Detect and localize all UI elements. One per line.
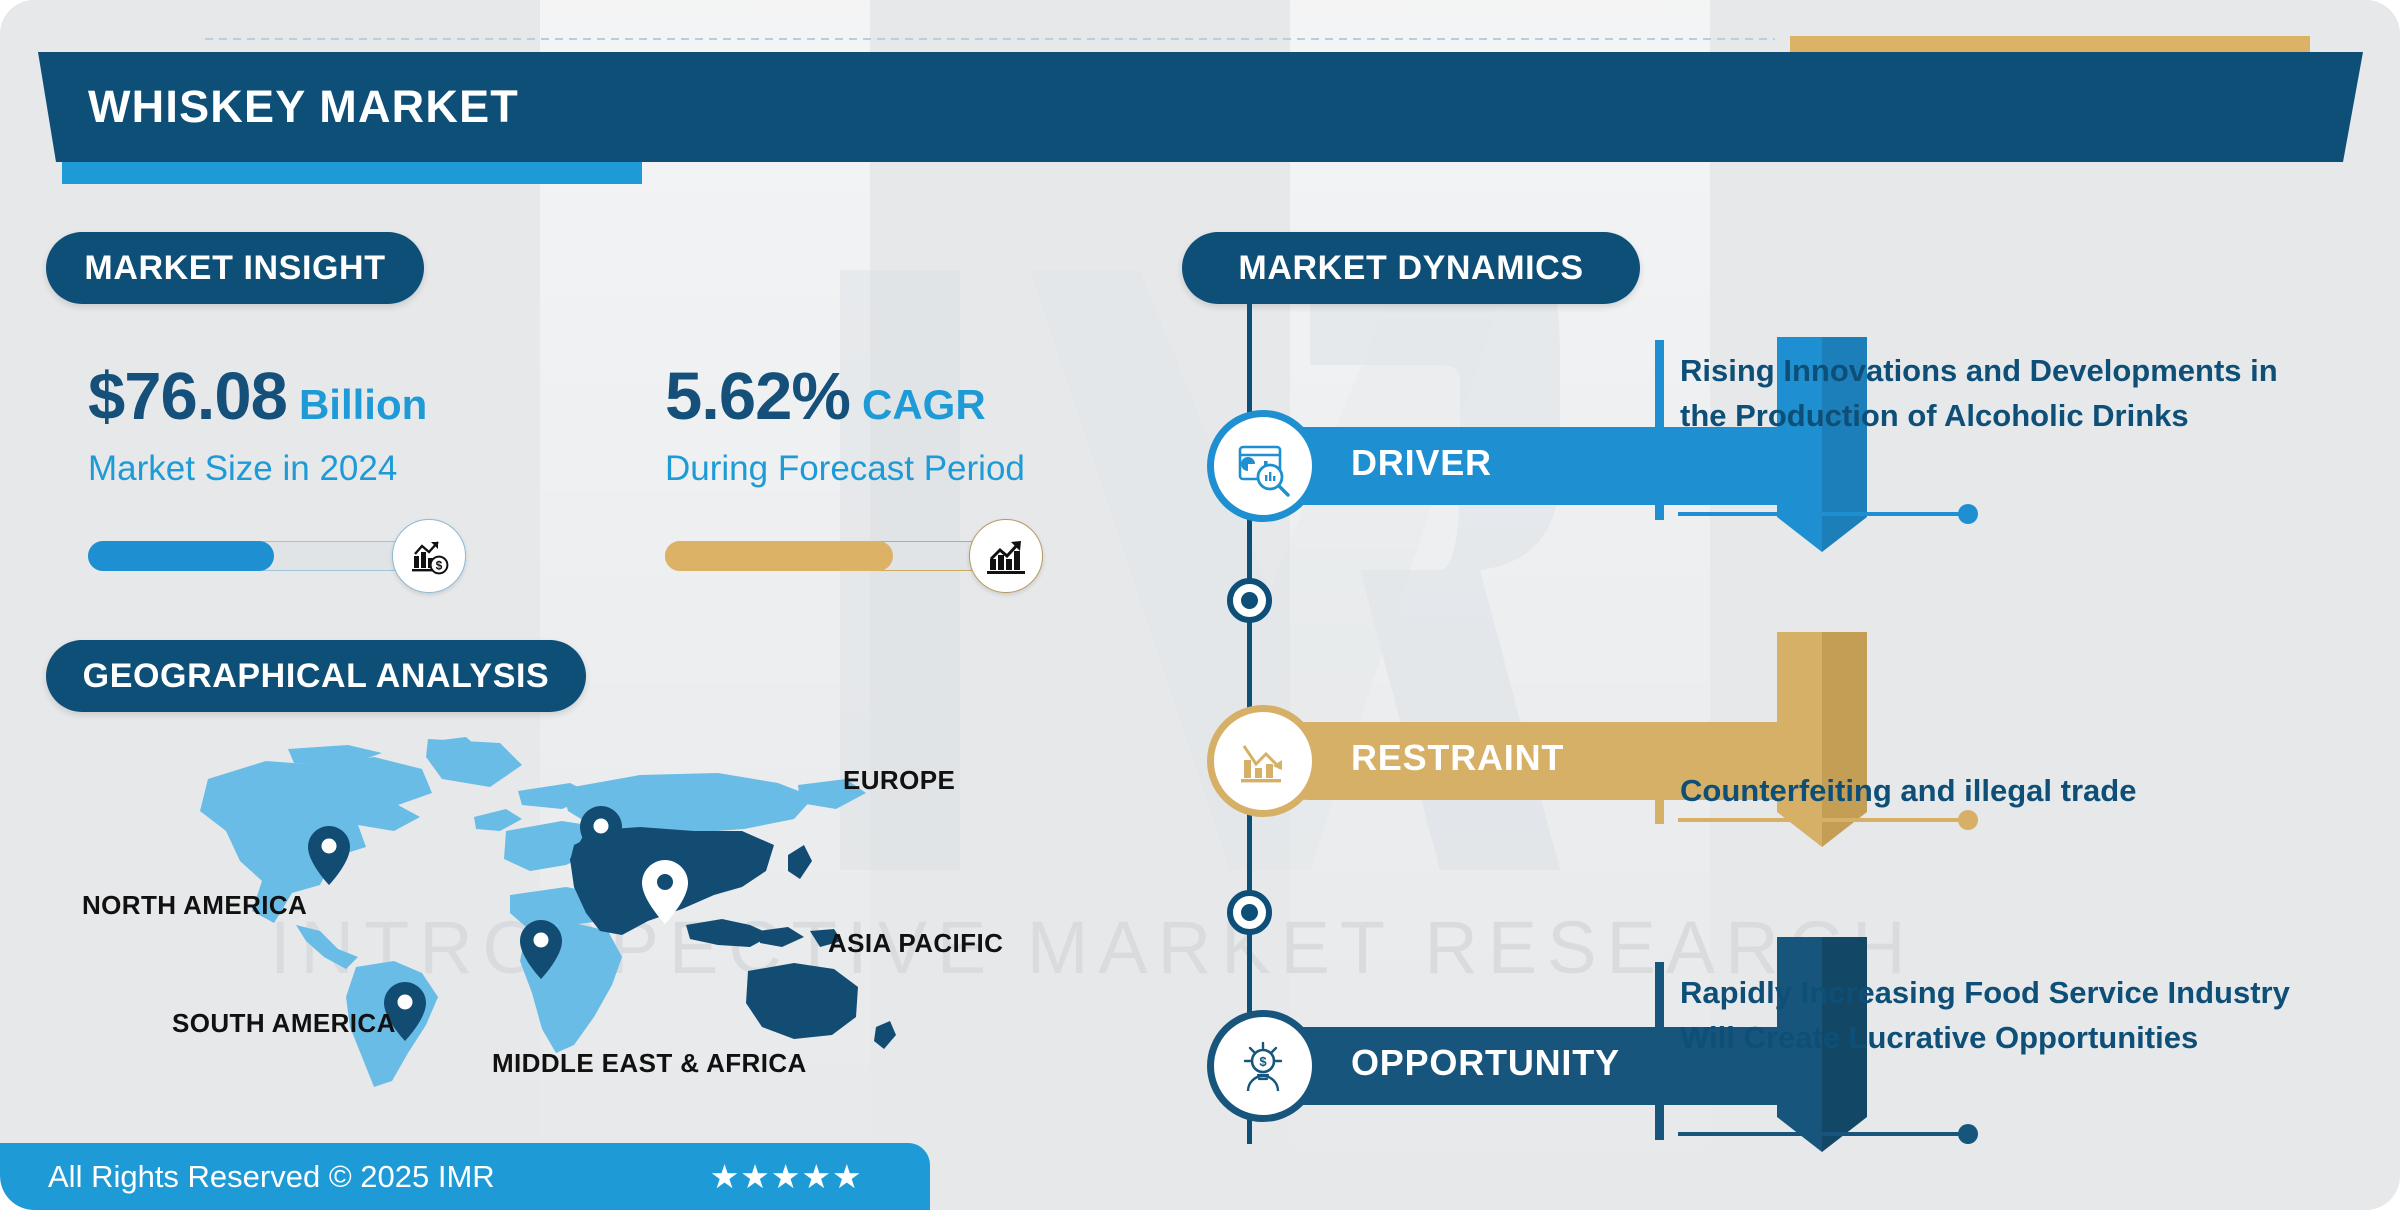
restraint-left-edge — [1655, 752, 1664, 824]
driver-left-edge — [1655, 340, 1664, 520]
section-pill-market-dynamics[interactable]: MARKET DYNAMICS — [1182, 232, 1640, 304]
cagr-value: 5.62% — [665, 359, 850, 434]
timeline-node-1 — [1227, 578, 1272, 623]
market-size-unit: Billion — [299, 381, 427, 428]
section-pill-market-insight[interactable]: MARKET INSIGHT — [46, 232, 424, 304]
growth-arrow-chart-icon — [969, 519, 1043, 593]
opportunity-text: Rapidly Increasing Food Service Industry… — [1680, 970, 2300, 1061]
stat-cagr: 5.62%CAGR During Forecast Period — [665, 358, 1065, 593]
header-banner: WHISKEY MARKET — [38, 52, 2363, 162]
driver-label: DRIVER — [1351, 442, 1492, 484]
page-title: WHISKEY MARKET — [88, 81, 519, 133]
lightbulb-dollar-icon: $ — [1207, 1010, 1319, 1122]
svg-text:$: $ — [1259, 1054, 1267, 1069]
progress-fill — [665, 541, 893, 571]
driver-underline — [1678, 512, 1968, 516]
timeline-node-2 — [1227, 890, 1272, 935]
restraint-underline — [1678, 818, 1968, 822]
opportunity-underline — [1678, 1132, 1968, 1136]
map-label-south-america: SOUTH AMERICA — [172, 1008, 396, 1039]
restraint-underline-dot — [1958, 810, 1978, 830]
cagr-caption: During Forecast Period — [665, 449, 1065, 489]
market-size-value: $76.08 — [88, 359, 287, 434]
stat-market-size: $76.08Billion Market Size in 2024 $ — [88, 358, 488, 593]
driver-text: Rising Innovations and Developments in t… — [1680, 348, 2300, 439]
driver-band — [1269, 427, 1789, 505]
declining-bar-chart-icon — [1207, 705, 1319, 817]
svg-text:$: $ — [436, 558, 443, 572]
map-label-europe: EUROPE — [843, 765, 955, 796]
map-label-north-america: NORTH AMERICA — [82, 890, 307, 921]
opportunity-left-edge — [1655, 962, 1664, 1140]
opportunity-label: OPPORTUNITY — [1351, 1042, 1620, 1084]
restraint-text: Counterfeiting and illegal trade — [1680, 768, 2300, 813]
header-blue-accent-bar — [62, 162, 642, 184]
opportunity-underline-dot — [1958, 1124, 1978, 1144]
cagr-unit: CAGR — [862, 381, 986, 428]
map-label-asia-pacific: ASIA PACIFIC — [828, 928, 1003, 959]
copyright-text: All Rights Reserved © 2025 IMR — [48, 1159, 495, 1195]
map-label-middle-east-africa: MIDDLE EAST & AFRICA — [492, 1048, 807, 1079]
infographic-page: INTROSPECTIVE MARKET RESEARCH WHISKEY MA… — [0, 0, 2400, 1210]
section-pill-geographical-analysis[interactable]: GEOGRAPHICAL ANALYSIS — [46, 640, 586, 712]
driver-underline-dot — [1958, 504, 1978, 524]
bar-chart-dollar-icon: $ — [392, 519, 466, 593]
dashboard-analytics-search-icon — [1207, 410, 1319, 522]
cagr-progress — [665, 519, 1065, 593]
market-size-progress: $ — [88, 519, 488, 593]
progress-fill — [88, 541, 274, 571]
restraint-label: RESTRAINT — [1351, 737, 1564, 779]
market-size-caption: Market Size in 2024 — [88, 449, 488, 489]
rating-stars: ★★★★★ — [710, 1157, 863, 1196]
footer-bar: All Rights Reserved © 2025 IMR ★★★★★ — [0, 1143, 930, 1210]
restraint-ribbon-icon — [1777, 632, 1867, 847]
header-dotted-line — [205, 38, 1775, 40]
